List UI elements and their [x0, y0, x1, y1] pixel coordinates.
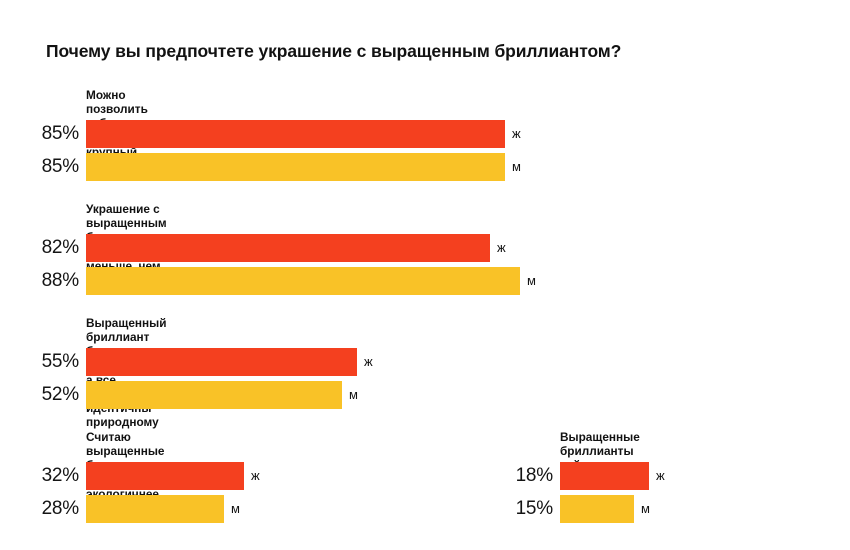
bar-value-label: 18%: [516, 462, 553, 490]
bar-value-label: 32%: [42, 462, 79, 490]
bar-value-label: 85%: [42, 153, 79, 181]
gender-marker: ж: [251, 462, 260, 490]
bar-female[interactable]: [560, 462, 649, 490]
gender-marker: м: [349, 381, 358, 409]
bar-value-label: 28%: [42, 495, 79, 523]
bar-female[interactable]: [86, 462, 244, 490]
gender-marker: м: [231, 495, 240, 523]
bar-value-label: 55%: [42, 348, 79, 376]
bar-female[interactable]: [86, 234, 490, 262]
gender-marker: м: [512, 153, 521, 181]
gender-marker: м: [641, 495, 650, 523]
gender-marker: ж: [656, 462, 665, 490]
bar-value-label: 88%: [42, 267, 79, 295]
bar-groups-container: Можно позволить себе более крупный брилл…: [0, 0, 850, 550]
bar-female[interactable]: [86, 120, 505, 148]
bar-male[interactable]: [86, 153, 505, 181]
bar-male[interactable]: [86, 381, 342, 409]
bar-male[interactable]: [86, 495, 224, 523]
gender-marker: ж: [512, 120, 521, 148]
bar-value-label: 85%: [42, 120, 79, 148]
bar-value-label: 82%: [42, 234, 79, 262]
bar-female[interactable]: [86, 348, 357, 376]
gender-marker: ж: [497, 234, 506, 262]
bar-male[interactable]: [86, 267, 520, 295]
bar-value-label: 15%: [516, 495, 553, 523]
gender-marker: м: [527, 267, 536, 295]
bar-male[interactable]: [560, 495, 634, 523]
gender-marker: ж: [364, 348, 373, 376]
chart-root: Почему вы предпочтете украшение с выраще…: [0, 0, 850, 550]
bar-value-label: 52%: [42, 381, 79, 409]
